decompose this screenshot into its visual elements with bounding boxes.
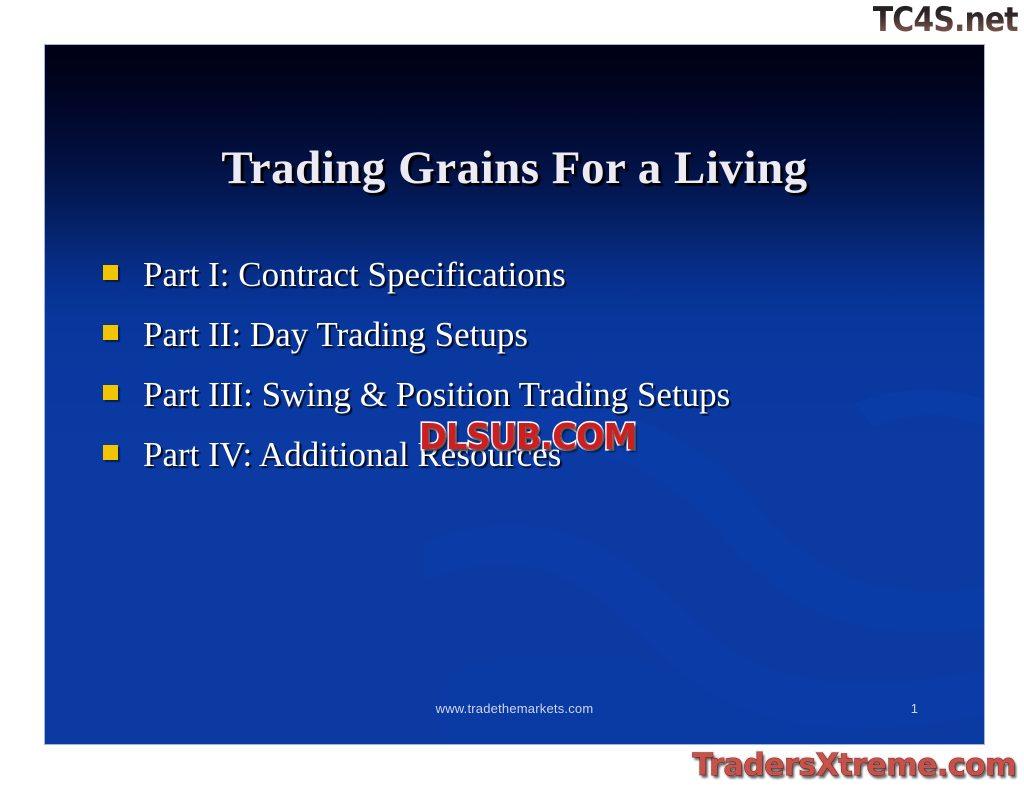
dlsub-watermark: DLSUB.COM DLSUB.COM: [419, 419, 636, 456]
bullet-label-part-3: Part III: Swing & Position Trading Setup…: [143, 373, 730, 417]
tradersxtreme-watermark: TradersXtreme.com TradersXtreme.com: [693, 749, 1016, 783]
square-bullet-icon: [103, 265, 118, 280]
square-bullet-icon: [103, 325, 118, 340]
footer-page-number: 1: [911, 701, 918, 716]
tradersxtreme-watermark-fill: TradersXtreme.com: [693, 749, 1016, 783]
square-bullet-icon: [103, 385, 118, 400]
tc4s-watermark: TC4S.net: [873, 2, 1018, 38]
dlsub-watermark-fill: DLSUB.COM: [419, 419, 636, 456]
slide-title: Trading Grains For a Living: [45, 141, 984, 195]
list-item: Part II: Day Trading Setups: [103, 313, 943, 359]
list-item: Part III: Swing & Position Trading Setup…: [103, 373, 943, 419]
bullet-label-part-2: Part II: Day Trading Setups: [143, 313, 528, 357]
bullet-label-part-1: Part I: Contract Specifications: [143, 253, 566, 297]
list-item: Part I: Contract Specifications: [103, 253, 943, 299]
presentation-slide: Trading Grains For a Living Part I: Cont…: [44, 44, 985, 745]
square-bullet-icon: [103, 445, 118, 460]
footer-website: www.tradethemarkets.com: [45, 701, 984, 716]
